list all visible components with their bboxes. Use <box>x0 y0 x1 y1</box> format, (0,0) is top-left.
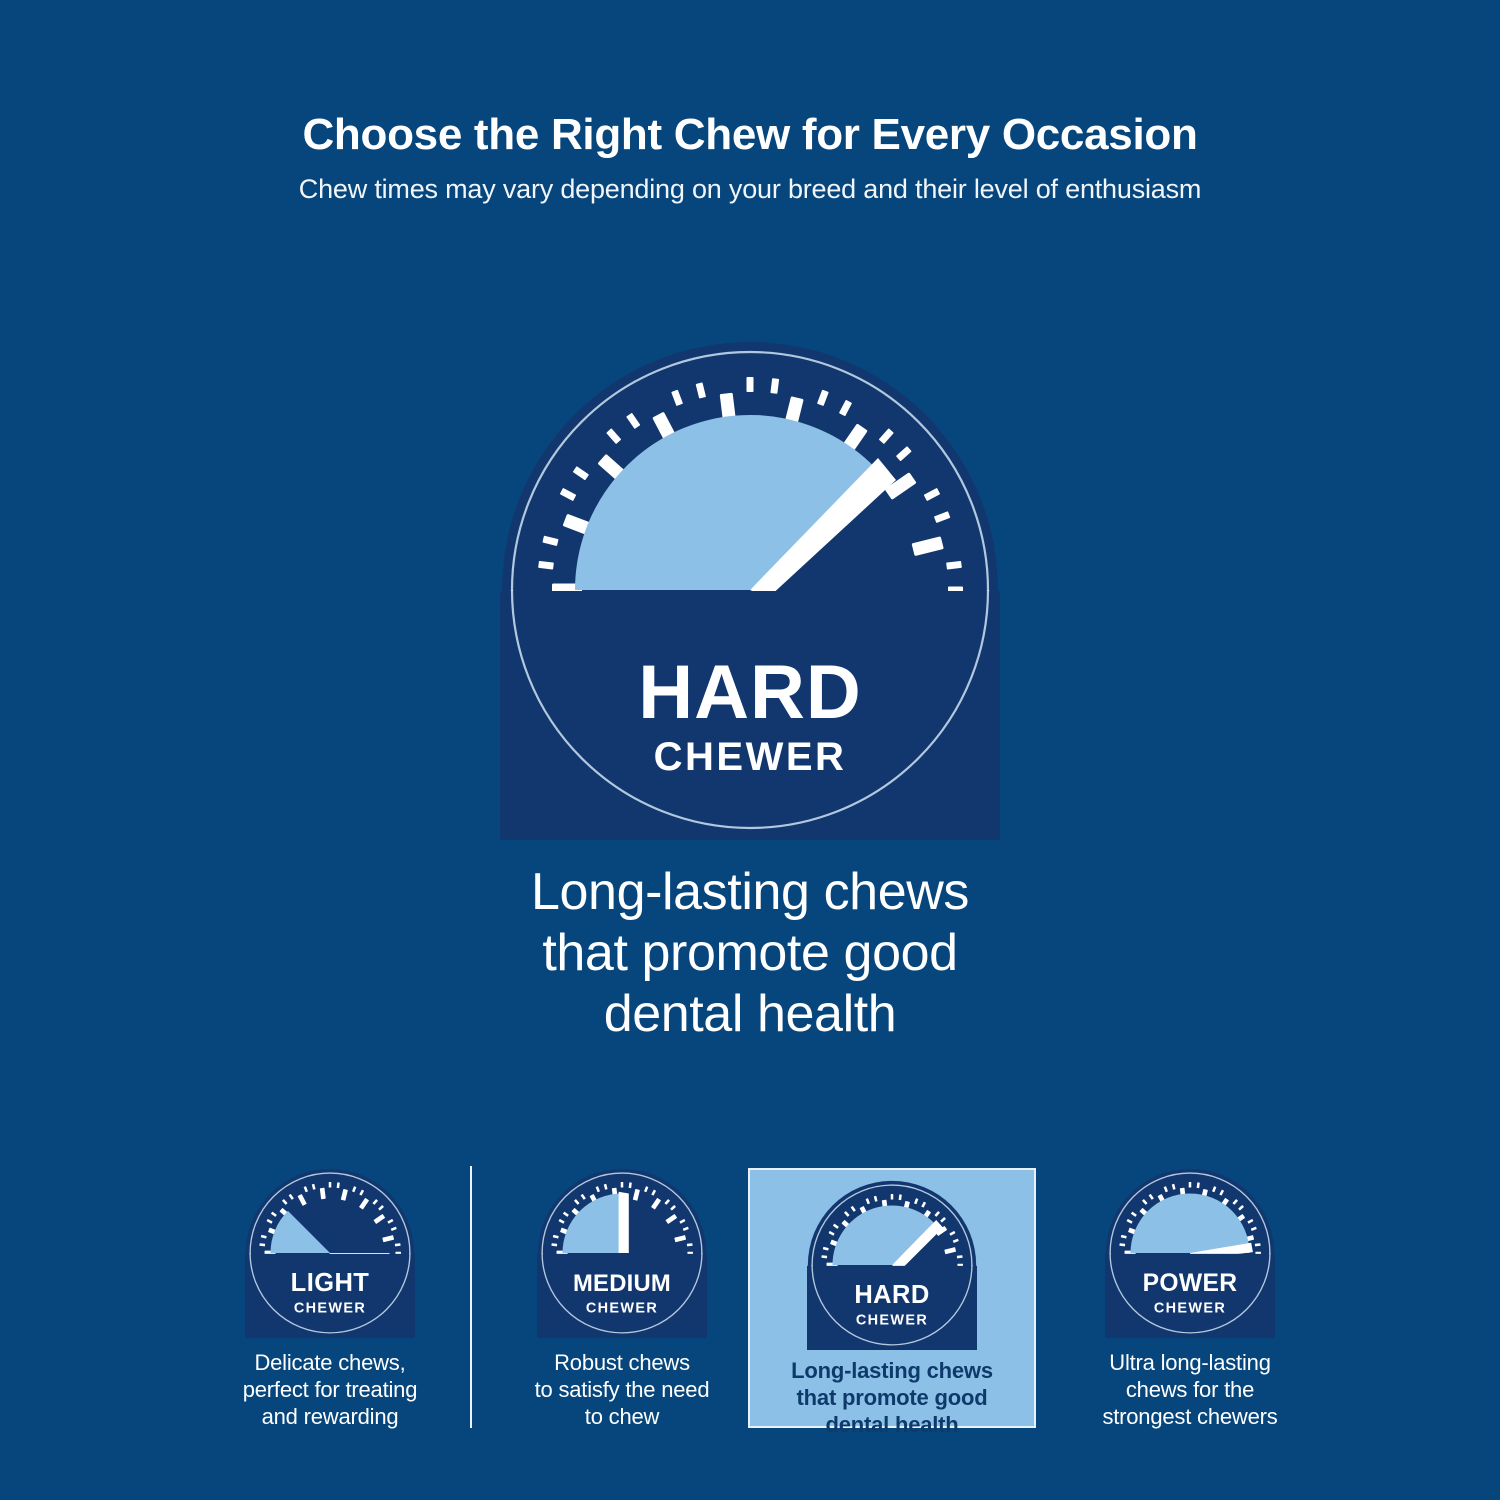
level-description-hard: Long-lasting chews that promote good den… <box>748 1358 1036 1438</box>
desc-line-3: to chew <box>478 1404 766 1431</box>
level-description-light: Delicate chews, perfect for treating and… <box>186 1350 474 1430</box>
level-label: POWER <box>1143 1270 1238 1297</box>
page-title: Choose the Right Chew for Every Occasion <box>0 112 1500 158</box>
level-item-hard[interactable]: HARD CHEWER Long-lasting chews that prom… <box>748 1168 1036 1428</box>
level-gauge-wrap-light: LIGHT CHEWER <box>245 1150 415 1338</box>
level-gauge-wrap-medium: MEDIUM CHEWER <box>537 1150 707 1338</box>
hero-level-sublabel: CHEWER <box>654 735 847 779</box>
desc-line-3: and rewarding <box>186 1404 474 1431</box>
desc-line-3: strongest chewers <box>1046 1404 1334 1431</box>
desc-line-1: Ultra long-lasting <box>1046 1350 1334 1377</box>
desc-line-3: dental health <box>748 1412 1036 1439</box>
hero-caption-line-1: Long-lasting chews <box>250 862 1250 923</box>
speedometer-gauge-icon: MEDIUM CHEWER <box>537 1168 707 1338</box>
desc-line-2: chews for the <box>1046 1377 1334 1404</box>
desc-line-1: Long-lasting chews <box>748 1358 1036 1385</box>
desc-line-1: Robust chews <box>478 1350 766 1377</box>
page-subtitle: Chew times may vary depending on your br… <box>0 174 1500 205</box>
speedometer-gauge-icon: LIGHT CHEWER <box>245 1168 415 1338</box>
level-sublabel: CHEWER <box>1154 1301 1226 1317</box>
hero-caption-line-3: dental health <box>250 984 1250 1045</box>
level-description-power: Ultra long-lasting chews for the stronge… <box>1046 1350 1334 1430</box>
level-description-medium: Robust chews to satisfy the need to chew <box>478 1350 766 1430</box>
level-gauge-wrap-power: POWER CHEWER <box>1105 1150 1275 1338</box>
hero-level-label: HARD <box>638 650 862 735</box>
header: Choose the Right Chew for Every Occasion… <box>0 112 1500 205</box>
promo-infographic: Choose the Right Chew for Every Occasion… <box>0 0 1500 1500</box>
level-label: LIGHT <box>291 1269 370 1297</box>
desc-line-1: Delicate chews, <box>186 1350 474 1377</box>
level-sublabel: CHEWER <box>856 1313 928 1329</box>
level-item-power[interactable]: POWER CHEWER Ultra long-lasting chews fo… <box>1046 1150 1334 1440</box>
desc-line-2: perfect for treating <box>186 1377 474 1404</box>
level-sublabel: CHEWER <box>586 1301 658 1317</box>
desc-line-2: that promote good <box>748 1385 1036 1412</box>
level-sublabel: CHEWER <box>294 1301 366 1317</box>
level-label: MEDIUM <box>573 1270 671 1297</box>
level-label: HARD <box>854 1281 929 1309</box>
speedometer-gauge-icon: HARD CHEWER <box>807 1180 977 1350</box>
hero-caption-line-2: that promote good <box>250 923 1250 984</box>
level-item-medium[interactable]: MEDIUM CHEWER Robust chews to satisfy th… <box>478 1150 766 1440</box>
chew-level-row: LIGHT CHEWER Delicate chews, perfect for… <box>0 1150 1500 1450</box>
hero-caption: Long-lasting chews that promote good den… <box>250 862 1250 1044</box>
hero-gauge-badge: HARD CHEWER <box>500 340 1000 840</box>
level-gauge-wrap-hard: HARD CHEWER <box>807 1168 977 1350</box>
speedometer-gauge-icon: HARD CHEWER <box>500 340 1000 840</box>
speedometer-gauge-icon: POWER CHEWER <box>1105 1168 1275 1338</box>
desc-line-2: to satisfy the need <box>478 1377 766 1404</box>
level-item-light[interactable]: LIGHT CHEWER Delicate chews, perfect for… <box>186 1150 474 1440</box>
